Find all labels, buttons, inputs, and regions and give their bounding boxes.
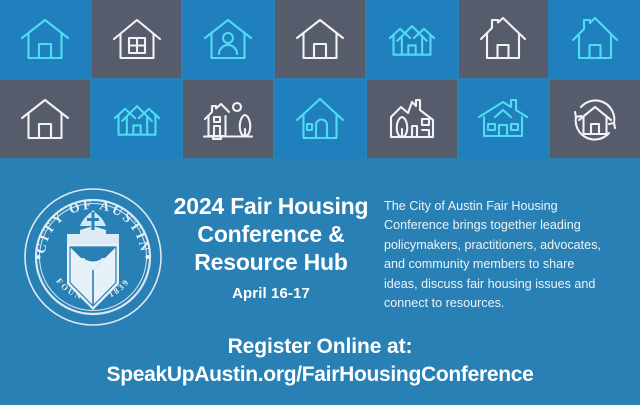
icon-tile-12 (367, 80, 457, 158)
house-triple-icon (388, 17, 436, 61)
seal-graphic: CITY OF AUSTIN FOUNDED 1839 (22, 186, 164, 328)
icon-tile-13 (459, 80, 549, 158)
house-chimney-icon (569, 16, 621, 62)
description-text: The City of Austin Fair Housing Conferen… (384, 197, 608, 313)
house-plain-icon (19, 96, 71, 142)
register-url[interactable]: SpeakUpAustin.org/FairHousingConference (0, 360, 640, 389)
fair-housing-conference-poster: CITY OF AUSTIN FOUNDED 1839 (0, 0, 640, 405)
title-line-2: Conference & (168, 220, 374, 248)
title-line-1: 2024 Fair Housing (168, 192, 374, 220)
icon-tile-5 (367, 0, 457, 78)
house-window-icon (111, 16, 163, 62)
icon-tile-7 (550, 0, 640, 78)
house-triple-icon (113, 97, 161, 141)
icon-tile-4 (275, 0, 365, 78)
icon-tile-11 (275, 80, 365, 158)
title-block: 2024 Fair Housing Conference & Resource … (168, 192, 374, 302)
icon-tile-10 (183, 80, 273, 158)
icon-tile-8 (0, 80, 90, 158)
description-block: The City of Austin Fair Housing Conferen… (384, 197, 608, 313)
house-chimney-icon (477, 16, 529, 62)
house-icon-grid (0, 0, 640, 158)
title-line-3: Resource Hub (168, 248, 374, 276)
house-plain-icon (294, 16, 346, 62)
house-cottage-tree-icon (386, 96, 438, 142)
icon-tile-14 (550, 80, 640, 158)
house-tree-sun-icon (202, 96, 254, 142)
icon-tile-6 (459, 0, 549, 78)
icon-tile-3 (183, 0, 273, 78)
house-person-icon (202, 16, 254, 62)
register-heading: Register Online at: (0, 334, 640, 360)
house-refresh-arrows-icon (569, 96, 621, 142)
house-plain-icon (19, 16, 71, 62)
city-of-austin-seal: CITY OF AUSTIN FOUNDED 1839 (22, 186, 164, 328)
icon-tile-9 (92, 80, 182, 158)
house-cottage-icon (477, 96, 529, 142)
house-door-arch-icon (294, 96, 346, 142)
poster-content: CITY OF AUSTIN FOUNDED 1839 (0, 158, 640, 405)
icon-tile-2 (92, 0, 182, 78)
conference-dates: April 16-17 (168, 285, 374, 302)
icon-tile-1 (0, 0, 90, 78)
register-block: Register Online at: SpeakUpAustin.org/Fa… (0, 334, 640, 389)
